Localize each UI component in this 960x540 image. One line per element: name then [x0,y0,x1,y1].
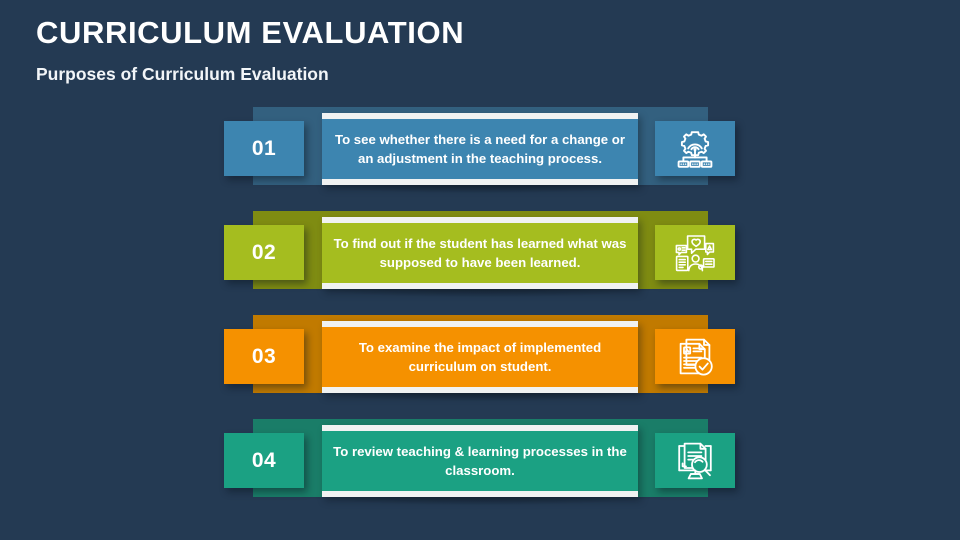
header: CURRICULUM EVALUATION Purposes of Curric… [36,16,464,85]
report-check-icon [674,337,716,377]
row-number-label: 02 [252,241,276,265]
row-icon-panel[interactable] [655,225,735,280]
row-text-panel[interactable]: To see whether there is a need for a cha… [322,113,638,185]
list-item[interactable]: 03 To examine the impact of implemented … [0,311,960,406]
row-text-panel[interactable]: To find out if the student has learned w… [322,217,638,289]
list-item[interactable]: 04 To review teaching & learning process… [0,415,960,510]
gear-network-icon [674,129,716,169]
row-icon-panel[interactable] [655,433,735,488]
list-item[interactable]: 02 To find out if the student has learne… [0,207,960,302]
row-description: To review teaching & learning processes … [322,442,638,480]
row-icon-panel[interactable] [655,329,735,384]
page-title: CURRICULUM EVALUATION [36,16,464,50]
feedback-bubbles-icon [674,233,716,273]
panel-rule-top [322,321,638,327]
panel-rule-top [322,217,638,223]
row-number-badge[interactable]: 01 [224,121,304,176]
list-item[interactable]: 01 To see whether there is a need for a … [0,103,960,198]
row-description: To find out if the student has learned w… [322,234,638,272]
row-number-label: 04 [252,449,276,473]
panel-rule-bottom [322,283,638,289]
row-number-badge[interactable]: 03 [224,329,304,384]
row-description: To see whether there is a need for a cha… [322,130,638,168]
panel-rule-top [322,425,638,431]
row-text-panel[interactable]: To review teaching & learning processes … [322,425,638,497]
row-number-badge[interactable]: 04 [224,433,304,488]
row-number-label: 03 [252,345,276,369]
panel-rule-bottom [322,179,638,185]
row-text-panel[interactable]: To examine the impact of implemented cur… [322,321,638,393]
panel-rule-bottom [322,491,638,497]
row-number-badge[interactable]: 02 [224,225,304,280]
panel-rule-top [322,113,638,119]
page-subtitle: Purposes of Curriculum Evaluation [36,64,464,85]
row-icon-panel[interactable] [655,121,735,176]
panel-rule-bottom [322,387,638,393]
row-number-label: 01 [252,137,276,161]
monitor-search-icon [674,441,716,481]
row-description: To examine the impact of implemented cur… [322,338,638,376]
